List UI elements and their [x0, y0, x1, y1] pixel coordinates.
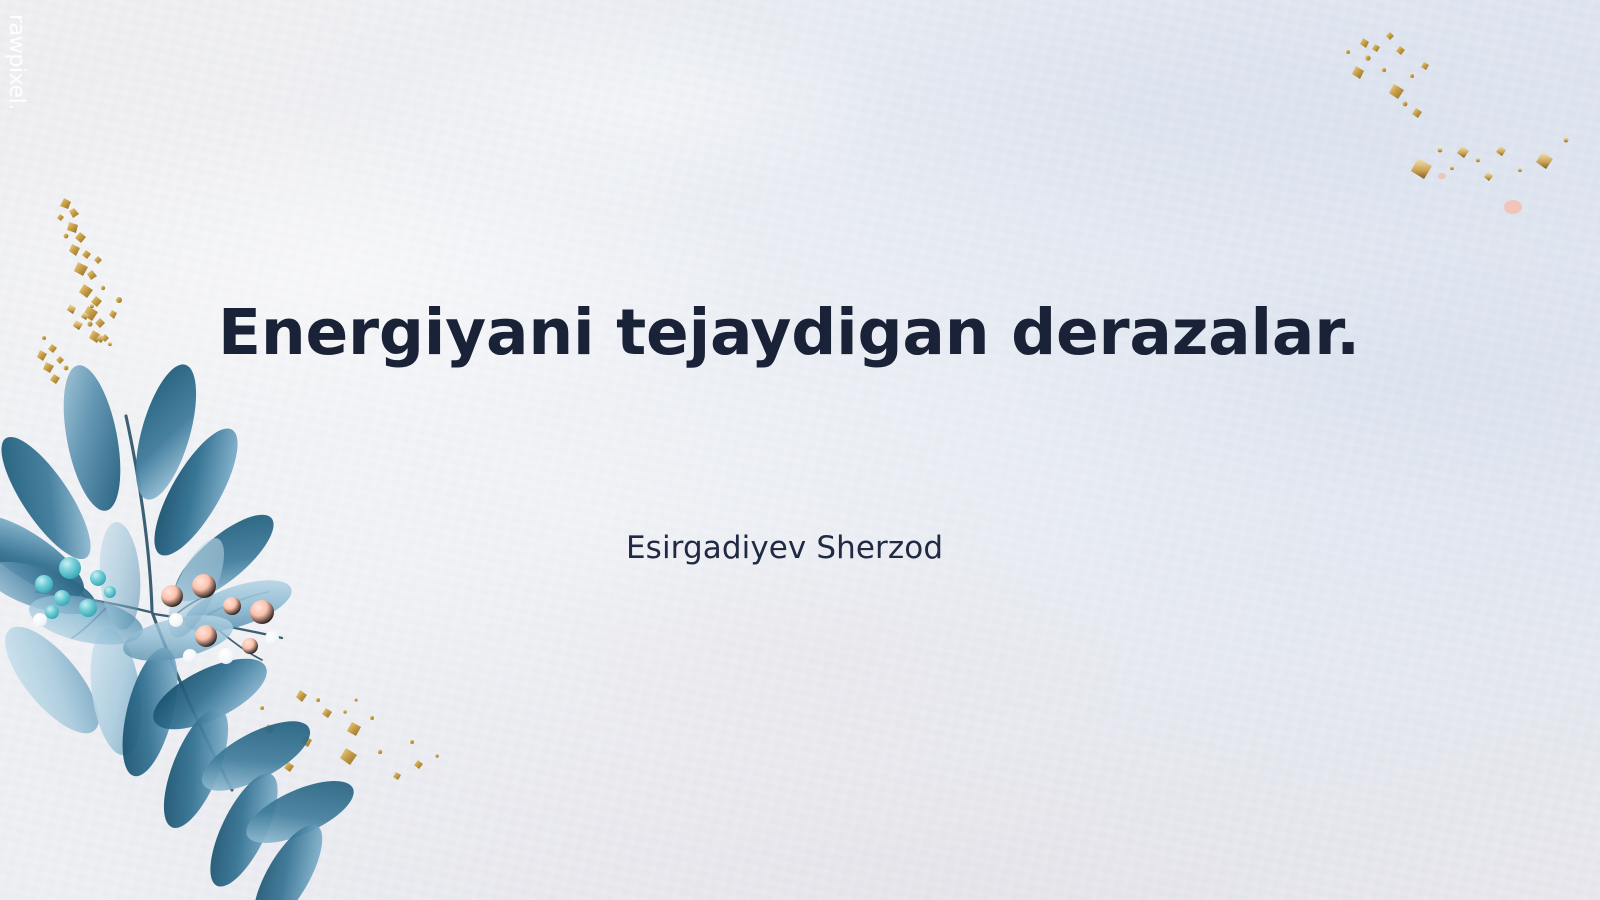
slide-title: Energiyani tejaydigan derazalar.: [218, 297, 1398, 369]
slide-subtitle-author: Esirgadiyev Sherzod: [626, 528, 943, 568]
background-vignette: [0, 0, 1600, 900]
rawpixel-watermark: rawpixel.: [2, 14, 30, 134]
watermark-text: rawpixel.: [2, 14, 30, 42]
title-slide: Energiyani tejaydigan derazalar. Esirgad…: [0, 0, 1600, 900]
